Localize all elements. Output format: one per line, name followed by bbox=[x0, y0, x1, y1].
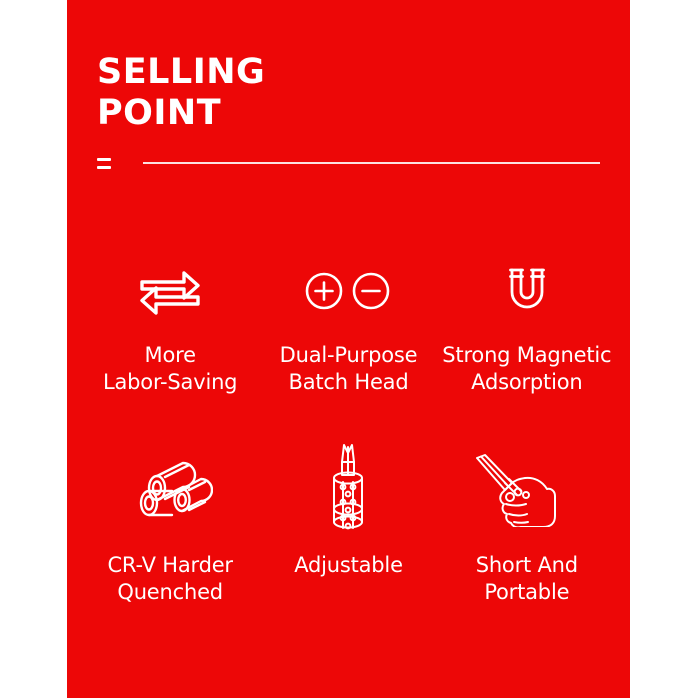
feature-item-short-and-portable: Short And Portable bbox=[438, 442, 616, 632]
feature-item-adjustable: Adjustable bbox=[259, 442, 437, 632]
feature-row-1: More Labor-Saving Dual-Purpose Batch Hea… bbox=[81, 252, 616, 442]
adjustable-bit-holder-icon bbox=[318, 442, 378, 538]
feature-item-more-labor-saving: More Labor-Saving bbox=[81, 252, 259, 442]
feature-row-2: CR-V Harder Quenched bbox=[81, 442, 616, 632]
hand-holding-screwdriver-icon bbox=[472, 442, 582, 538]
page-root: SELLING POINT More Labor-Saving bbox=[0, 0, 698, 698]
header: SELLING POINT bbox=[97, 52, 600, 134]
exchange-arrows-icon bbox=[136, 252, 204, 330]
feature-label: Dual-Purpose Batch Head bbox=[280, 342, 418, 396]
plus-minus-circles-icon bbox=[302, 252, 394, 330]
feature-grid: More Labor-Saving Dual-Purpose Batch Hea… bbox=[81, 252, 616, 632]
horseshoe-magnet-icon bbox=[499, 252, 555, 330]
feature-label: More Labor-Saving bbox=[103, 342, 237, 396]
header-divider bbox=[97, 152, 600, 174]
feature-item-dual-purpose-batch-head: Dual-Purpose Batch Head bbox=[259, 252, 437, 442]
feature-label: CR-V Harder Quenched bbox=[107, 552, 232, 606]
feature-item-crv-harder-quenched: CR-V Harder Quenched bbox=[81, 442, 259, 632]
equals-mark-icon bbox=[97, 158, 111, 169]
selling-point-panel: SELLING POINT More Labor-Saving bbox=[67, 0, 630, 698]
feature-label: Adjustable bbox=[294, 552, 403, 579]
feature-label: Strong Magnetic Adsorption bbox=[442, 342, 611, 396]
page-title: SELLING POINT bbox=[97, 52, 600, 134]
divider-line bbox=[143, 162, 600, 164]
feature-item-strong-magnetic-adsorption: Strong Magnetic Adsorption bbox=[438, 252, 616, 442]
steel-tubes-icon bbox=[127, 442, 213, 538]
feature-label: Short And Portable bbox=[476, 552, 578, 606]
